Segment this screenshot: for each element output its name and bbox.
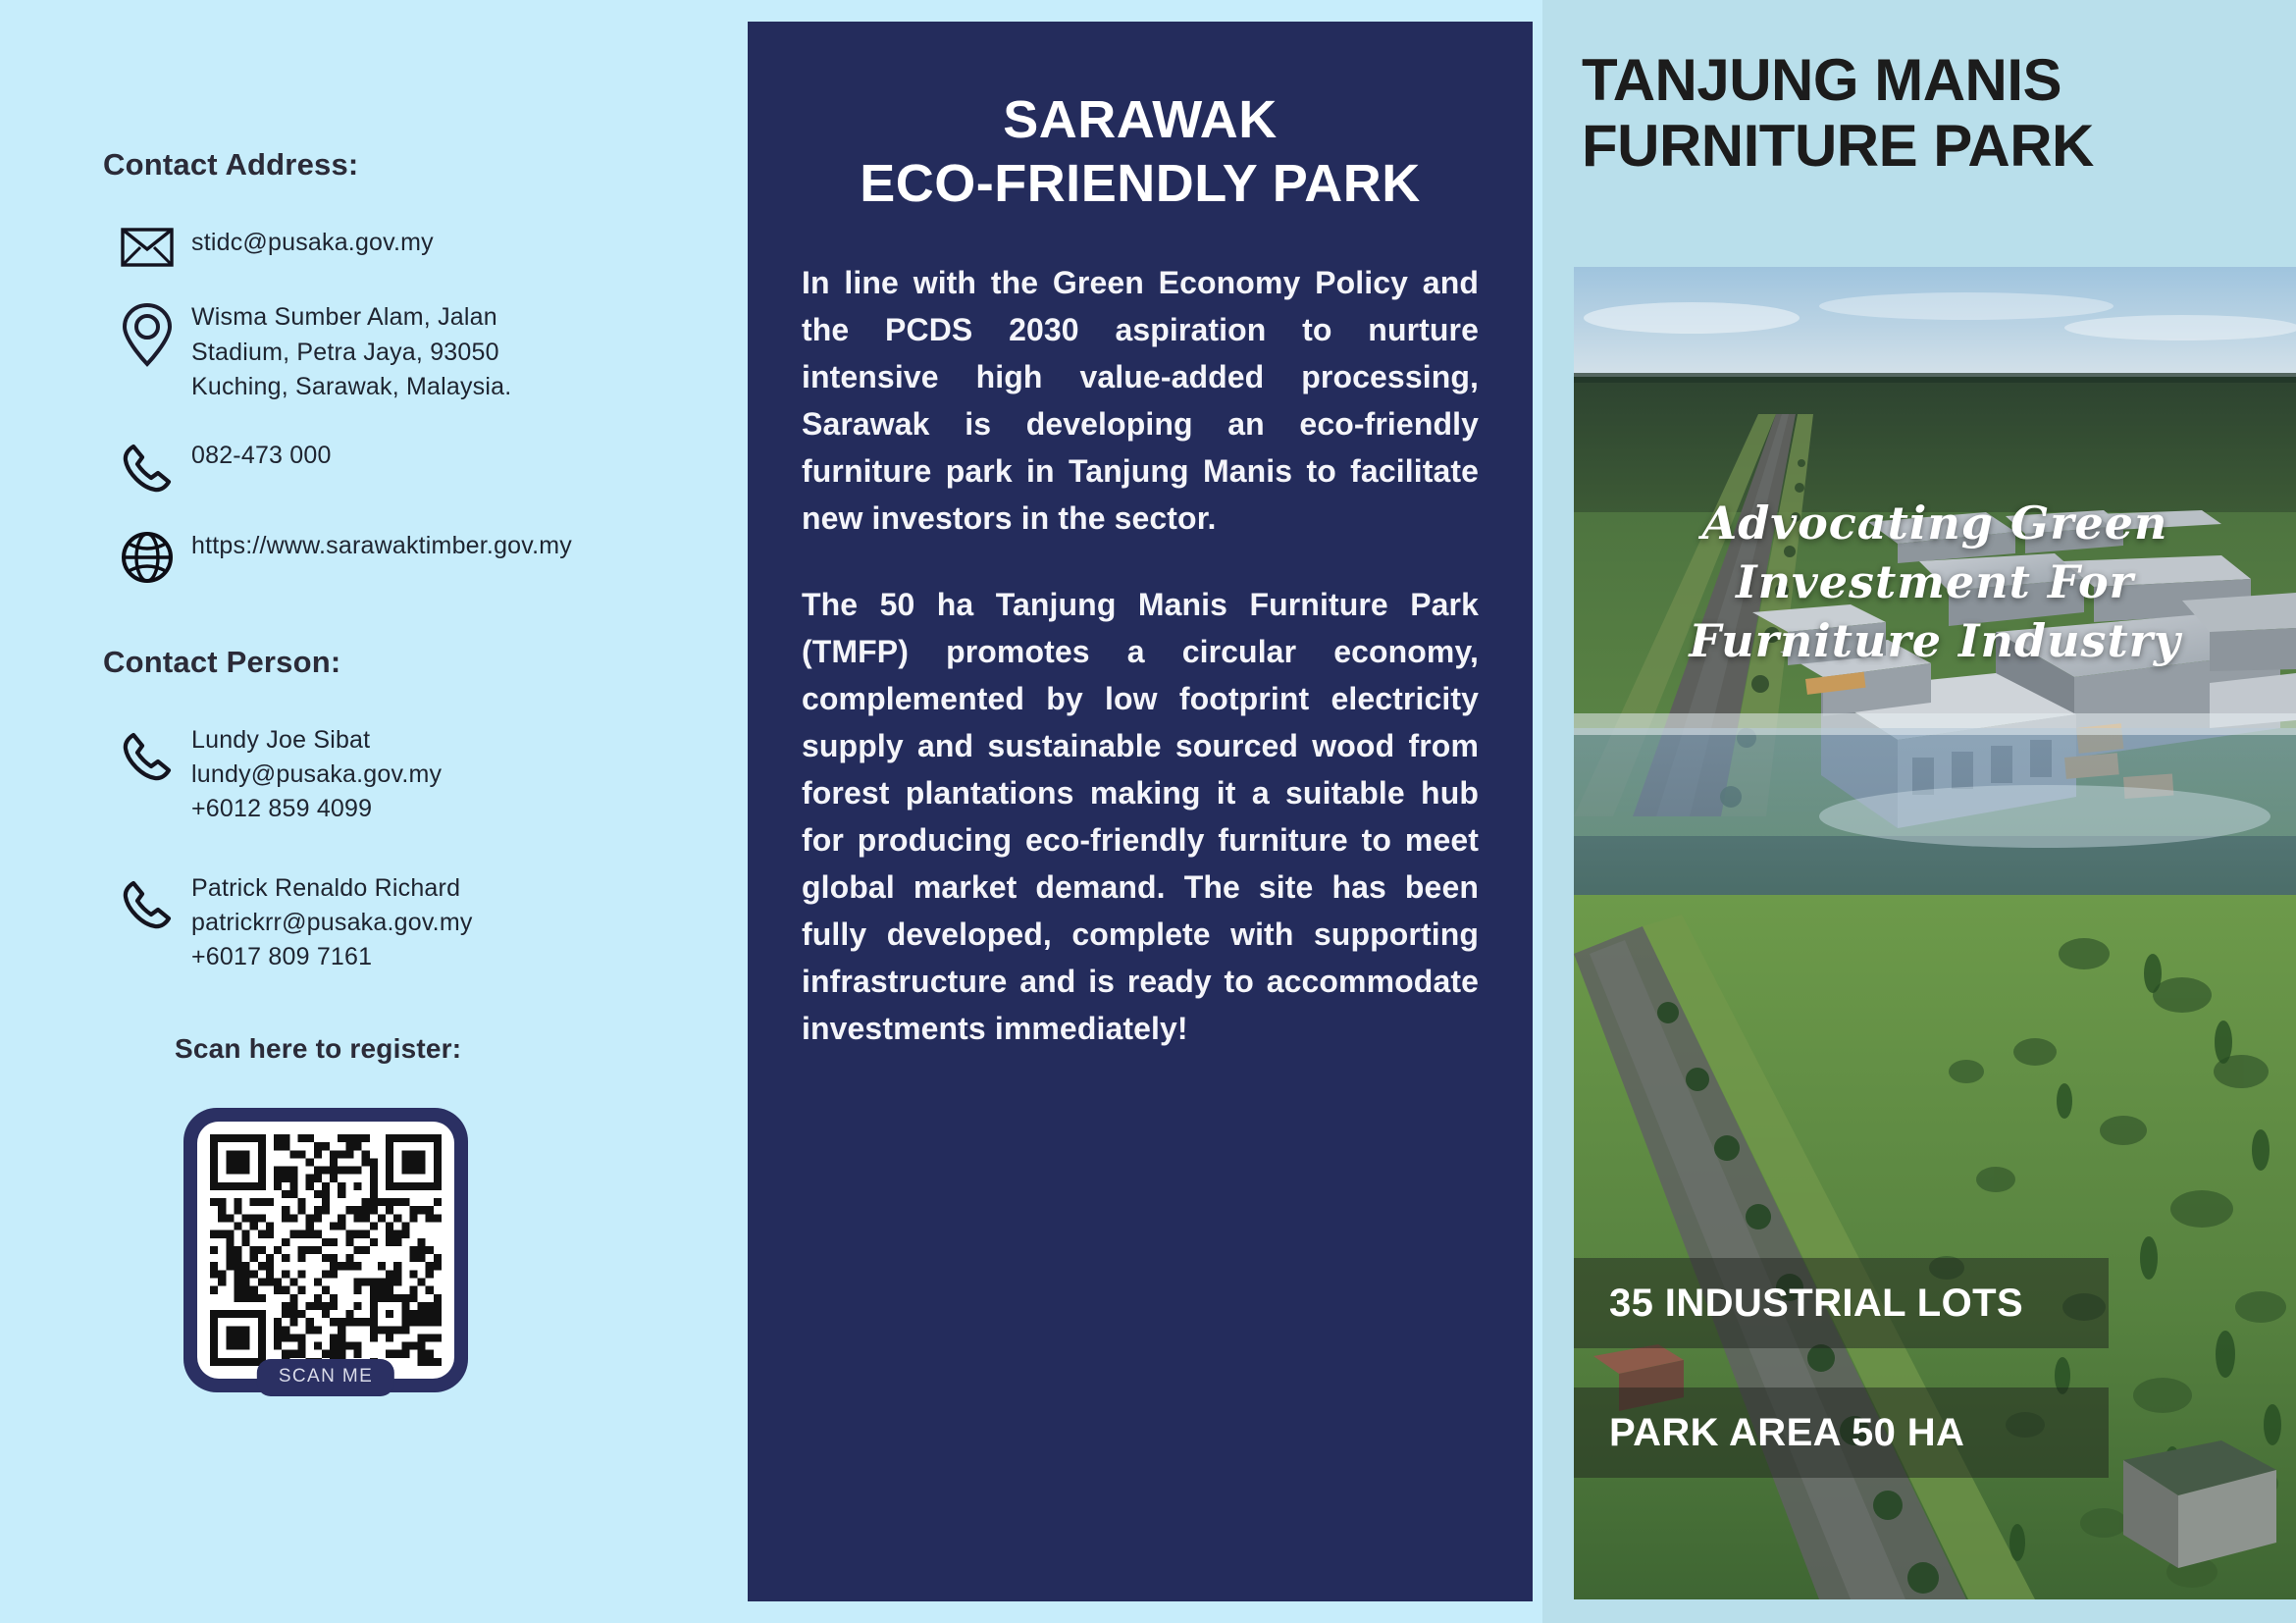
center-title-line2: ECO-FRIENDLY PARK — [802, 152, 1479, 216]
hero-panel: TANJUNG MANIS FURNITURE PARK — [1542, 0, 2296, 1623]
phone-icon — [103, 439, 191, 496]
aerial-photo: Advocating Green Investment For Furnitur… — [1574, 267, 2296, 1599]
contact-email-row[interactable]: stidc@pusaka.gov.my — [103, 226, 748, 267]
envelope-icon — [103, 226, 191, 267]
phone-icon — [103, 871, 191, 932]
person-phone: +6017 809 7161 — [191, 940, 473, 974]
contact-person-1[interactable]: Lundy Joe Sibat lundy@pusaka.gov.my +601… — [103, 723, 748, 826]
qr-code-image — [210, 1134, 442, 1366]
description-panel: SARAWAK ECO-FRIENDLY PARK In line with t… — [748, 22, 1533, 1601]
center-paragraph-1: In line with the Green Economy Policy an… — [802, 259, 1479, 542]
person-email: lundy@pusaka.gov.my — [191, 758, 442, 792]
contact-website-text: https://www.sarawaktimber.gov.my — [191, 529, 662, 564]
contact-person-1-details: Lundy Joe Sibat lundy@pusaka.gov.my +601… — [191, 723, 442, 826]
contact-email-text: stidc@pusaka.gov.my — [191, 226, 662, 261]
hero-title-line1: TANJUNG MANIS — [1582, 47, 2061, 113]
contact-person-2[interactable]: Patrick Renaldo Richard patrickrr@pusaka… — [103, 871, 748, 974]
center-title-line1: SARAWAK — [1003, 90, 1278, 149]
stat-park-area: PARK AREA 50 HA — [1574, 1387, 2109, 1478]
contact-person-title: Contact Person: — [103, 645, 748, 680]
qr-code-inner — [197, 1122, 454, 1379]
person-phone: +6012 859 4099 — [191, 792, 442, 826]
contact-address-text: Wisma Sumber Alam, Jalan Stadium, Petra … — [191, 300, 662, 405]
hero-title-line2: FURNITURE PARK — [1582, 113, 2270, 179]
location-pin-icon — [103, 300, 191, 367]
person-email: patrickrr@pusaka.gov.my — [191, 906, 473, 940]
center-body: In line with the Green Economy Policy an… — [802, 259, 1479, 1052]
contact-address-title: Contact Address: — [103, 147, 748, 183]
hero-title: TANJUNG MANIS FURNITURE PARK — [1542, 47, 2296, 179]
person-name: Patrick Renaldo Richard — [191, 871, 473, 906]
contact-person-2-details: Patrick Renaldo Richard patrickrr@pusaka… — [191, 871, 473, 974]
contact-address-row: Wisma Sumber Alam, Jalan Stadium, Petra … — [103, 300, 748, 405]
person-name: Lundy Joe Sibat — [191, 723, 442, 758]
qr-code-card[interactable]: SCAN ME — [183, 1108, 468, 1392]
contact-phone-text: 082-473 000 — [191, 439, 662, 474]
stat-industrial-lots: 35 INDUSTRIAL LOTS — [1574, 1258, 2109, 1348]
contact-phone-row[interactable]: 082-473 000 — [103, 439, 748, 496]
globe-icon — [103, 529, 191, 584]
scan-me-badge: SCAN ME — [257, 1359, 394, 1396]
center-title: SARAWAK ECO-FRIENDLY PARK — [802, 88, 1479, 216]
contact-panel: Contact Address: stidc@pusaka.gov.my — [0, 0, 748, 1623]
scan-here-title: Scan here to register: — [175, 1033, 748, 1065]
brochure-page: Contact Address: stidc@pusaka.gov.my — [0, 0, 2296, 1623]
phone-icon — [103, 723, 191, 784]
contact-website-row[interactable]: https://www.sarawaktimber.gov.my — [103, 529, 748, 584]
center-paragraph-2: The 50 ha Tanjung Manis Furniture Park (… — [802, 581, 1479, 1052]
